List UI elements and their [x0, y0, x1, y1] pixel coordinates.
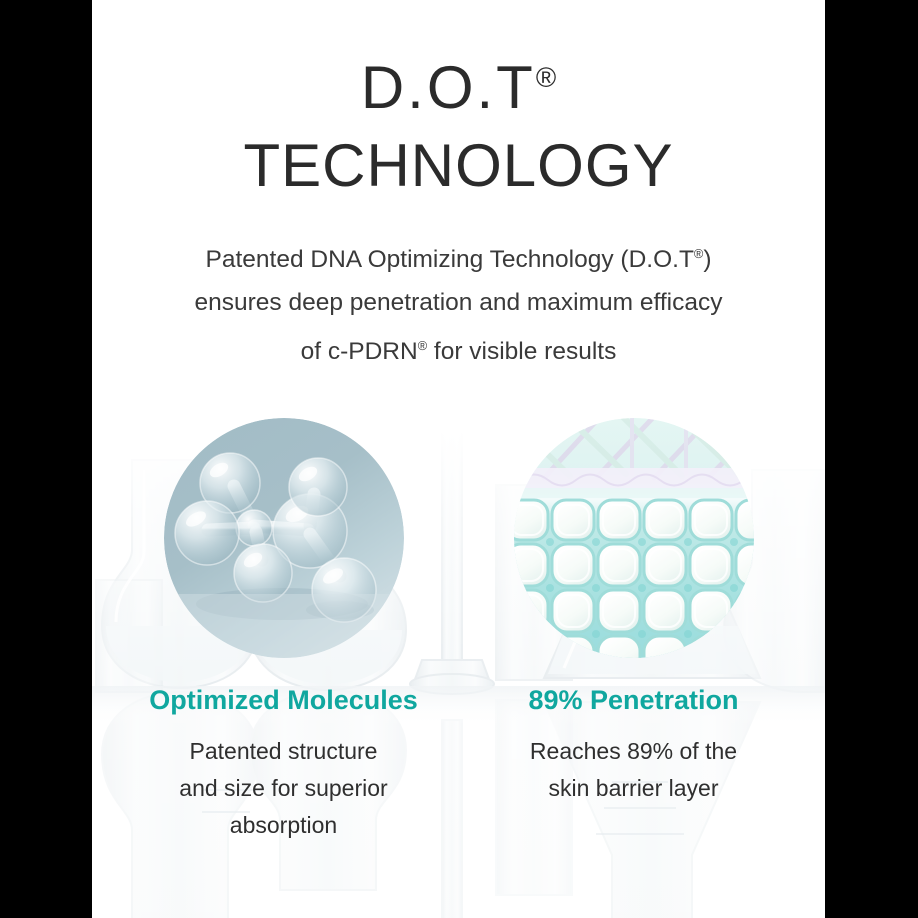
- feature-description-optimized-molecules: Patented structure and size for superior…: [109, 733, 459, 844]
- content-canvas: D.O.T® TECHNOLOGY Patented DNA Optimizin…: [92, 0, 825, 918]
- molecule-structure-image: [164, 418, 404, 658]
- feature-penetration: 89% Penetration Reaches 89% of the skin …: [459, 418, 809, 844]
- infographic-root: D.O.T® TECHNOLOGY Patented DNA Optimizin…: [0, 0, 918, 918]
- page-title-line-2: TECHNOLOGY: [92, 136, 825, 196]
- header-block: D.O.T® TECHNOLOGY Patented DNA Optimizin…: [92, 0, 825, 373]
- subtitle-line-1: Patented DNA Optimizing Technology (D.O.…: [92, 232, 825, 281]
- pillarbox-right: [825, 0, 918, 918]
- registered-trademark-icon: ®: [694, 246, 703, 261]
- page-title-line-1: D.O.T®: [92, 58, 825, 118]
- feature-title-optimized-molecules: Optimized Molecules: [109, 684, 459, 716]
- desc-line: Reaches 89% of the: [459, 733, 809, 770]
- desc-line: Patented structure: [109, 733, 459, 770]
- registered-trademark-icon: ®: [536, 62, 556, 93]
- registered-trademark-icon: ®: [418, 338, 427, 353]
- subtitle-line-3-text: of c-PDRN: [301, 338, 418, 365]
- features-row: Optimized Molecules Patented structure a…: [92, 418, 825, 844]
- subtitle-line-3-tail: for visible results: [427, 338, 616, 365]
- desc-line: skin barrier layer: [459, 770, 809, 807]
- page-title-main: D.O.T: [361, 54, 536, 121]
- desc-line: and size for superior: [109, 770, 459, 807]
- desc-line: absorption: [109, 807, 459, 844]
- subtitle-line-2: ensures deep penetration and maximum eff…: [92, 281, 825, 324]
- skin-barrier-lattice-image: [514, 418, 754, 658]
- subtitle-line-3: of c-PDRN® for visible results: [92, 324, 825, 373]
- pillarbox-left: [0, 0, 92, 918]
- subtitle-line-1-tail: ): [703, 246, 711, 273]
- feature-optimized-molecules: Optimized Molecules Patented structure a…: [109, 418, 459, 844]
- feature-description-penetration: Reaches 89% of the skin barrier layer: [459, 733, 809, 807]
- subtitle-line-1-text: Patented DNA Optimizing Technology (D.O.…: [206, 246, 694, 273]
- subtitle-block: Patented DNA Optimizing Technology (D.O.…: [92, 232, 825, 373]
- feature-title-penetration: 89% Penetration: [459, 684, 809, 716]
